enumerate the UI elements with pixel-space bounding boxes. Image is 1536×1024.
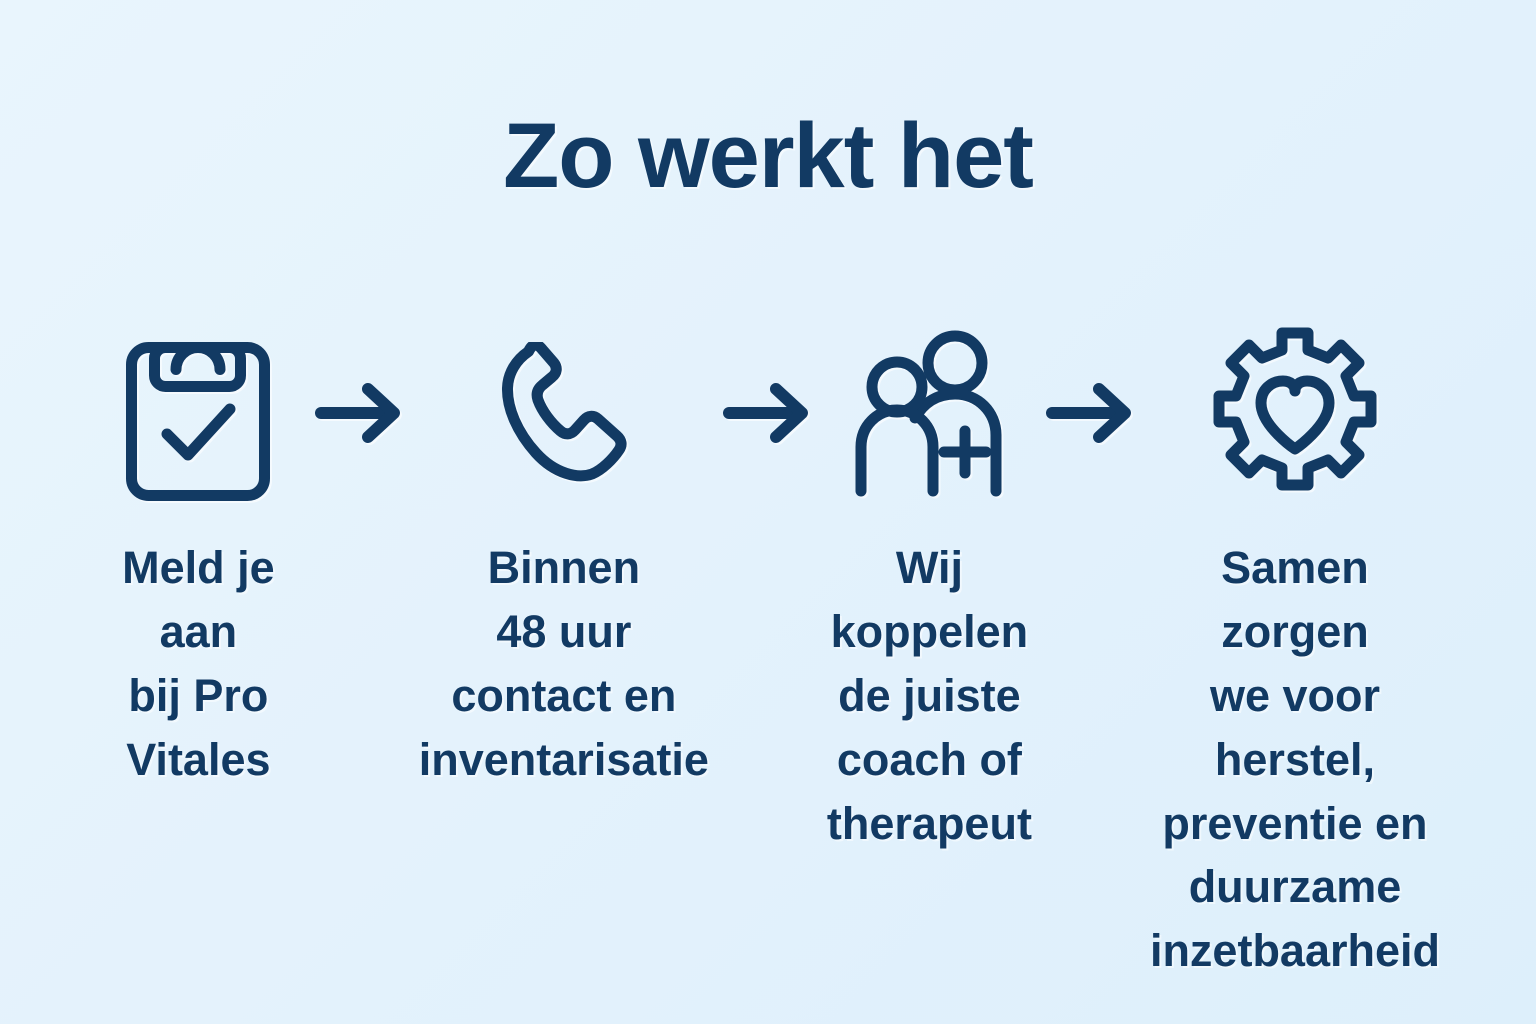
step-3-icon-slot: [845, 318, 1013, 508]
step-3-label: Wij koppelen de juiste coach of therapeu…: [827, 536, 1032, 855]
step-1: Meld je aan bij Pro Vitales: [96, 318, 301, 792]
infographic-canvas: Zo werkt het Meld je aan bij Pro Vitales: [0, 0, 1536, 1024]
gear-heart-icon: [1207, 325, 1383, 501]
step-2: Binnen 48 uur contact en inventarisatie: [419, 318, 709, 792]
step-4-icon-slot: [1207, 318, 1383, 508]
step-4: Samen zorgen we voor herstel, preventie …: [1150, 318, 1440, 983]
arrow-right-icon: [314, 377, 406, 449]
clipboard-check-icon: [125, 324, 271, 502]
step-4-label: Samen zorgen we voor herstel, preventie …: [1150, 536, 1440, 983]
connector-1: [301, 318, 419, 508]
step-1-label: Meld je aan bij Pro Vitales: [96, 536, 301, 792]
arrow-right-icon: [1045, 377, 1137, 449]
connector-3: [1032, 318, 1150, 508]
connector-2: [709, 318, 827, 508]
arrow-right-icon: [722, 377, 814, 449]
step-3: Wij koppelen de juiste coach of therapeu…: [827, 318, 1032, 855]
step-2-label: Binnen 48 uur contact en inventarisatie: [419, 536, 709, 792]
step-2-icon-slot: [498, 318, 630, 508]
page-title: Zo werkt het: [0, 108, 1536, 205]
steps-row: Meld je aan bij Pro Vitales Binnen 48 uu…: [96, 318, 1440, 983]
step-1-icon-slot: [125, 318, 271, 508]
people-plus-icon: [845, 329, 1013, 497]
phone-icon: [498, 342, 630, 484]
